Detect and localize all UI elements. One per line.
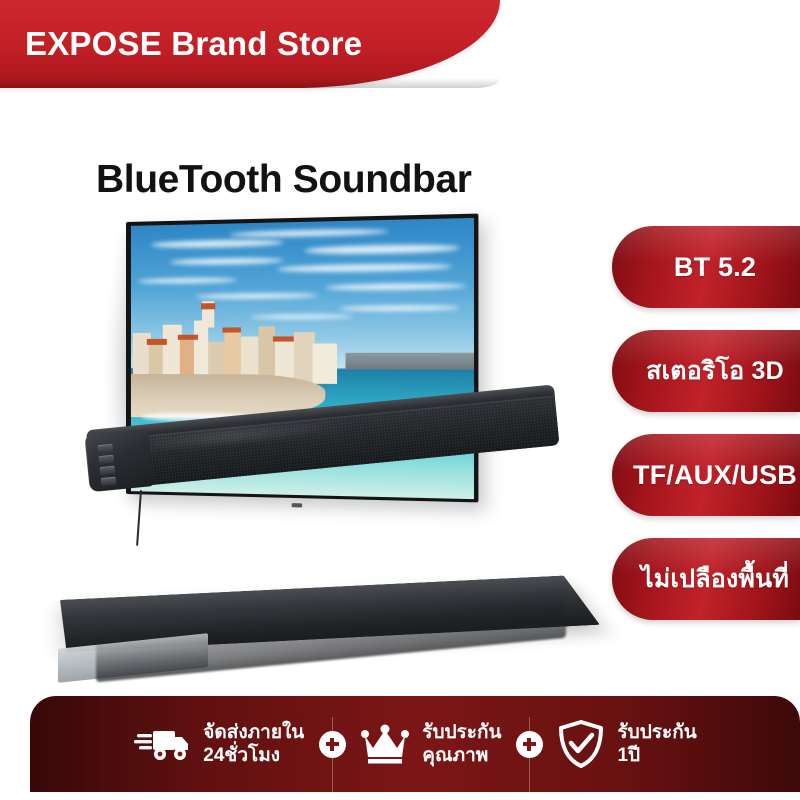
- feature-quality: รับประกัน คุณภาพ: [354, 721, 507, 767]
- badge-label: สเตอริโอ 3D: [628, 351, 784, 391]
- feature-warranty-text: รับประกัน 1ปี: [617, 721, 696, 767]
- feature-line-2: 1ปี: [617, 745, 640, 766]
- shield-check-icon: [557, 719, 605, 769]
- feature-quality-text: รับประกัน คุณภาพ: [422, 721, 501, 767]
- soundbar-button: [100, 466, 116, 475]
- feature-badge-space-saving: ไม่เปลืองพื้นที่: [612, 538, 800, 620]
- soundbar-button-cluster: [97, 444, 117, 489]
- badge-label: BT 5.2: [656, 252, 756, 283]
- feature-line-1: รับประกัน: [617, 722, 696, 743]
- soundbar-button: [99, 455, 115, 464]
- feature-badge-stereo: สเตอริโอ 3D: [612, 330, 800, 412]
- feature-warranty: รับประกัน 1ปี: [551, 719, 702, 769]
- crown-icon: [360, 723, 410, 765]
- feature-line-1: จัดส่งภายใน: [203, 722, 304, 743]
- feature-line-2: 24ชั่วโมง: [203, 745, 280, 766]
- feature-delivery: จัดส่งภายใน 24ชั่วโมง: [127, 721, 310, 767]
- feature-badge-list: BT 5.2 สเตอริโอ 3D TF/AUX/USB ไม่เปลืองพ…: [612, 226, 800, 642]
- plus-separator: [310, 731, 354, 758]
- badge-label: ไม่เปลืองพื้นที่: [623, 559, 789, 599]
- page-title: BlueTooth Soundbar: [96, 158, 472, 202]
- plus-separator: [507, 731, 551, 758]
- store-header-banner: EXPOSE Brand Store: [0, 0, 500, 88]
- feature-badge-inputs: TF/AUX/USB: [612, 434, 800, 516]
- soundbar-control-endcap: [84, 428, 153, 492]
- feature-delivery-text: จัดส่งภายใน 24ชั่วโมง: [203, 721, 304, 767]
- feature-badge-bluetooth: BT 5.2: [612, 226, 800, 308]
- soundbar-button: [101, 477, 117, 486]
- plus-icon: [516, 731, 543, 758]
- feature-line-2: คุณภาพ: [422, 745, 488, 766]
- tv-brand-logo: [292, 503, 302, 507]
- delivery-truck-icon: [133, 723, 191, 765]
- soundbar-button: [97, 444, 113, 453]
- scene-pier: [346, 353, 474, 370]
- feature-line-1: รับประกัน: [422, 722, 501, 743]
- product-banner: EXPOSE Brand Store BlueTooth Soundbar: [0, 0, 800, 800]
- service-guarantee-bar: จัดส่งภายใน 24ชั่วโมง รับประกัน: [30, 696, 800, 792]
- badge-label: TF/AUX/USB: [615, 460, 797, 491]
- plus-icon: [319, 731, 346, 758]
- brand-title: EXPOSE Brand Store: [25, 25, 362, 63]
